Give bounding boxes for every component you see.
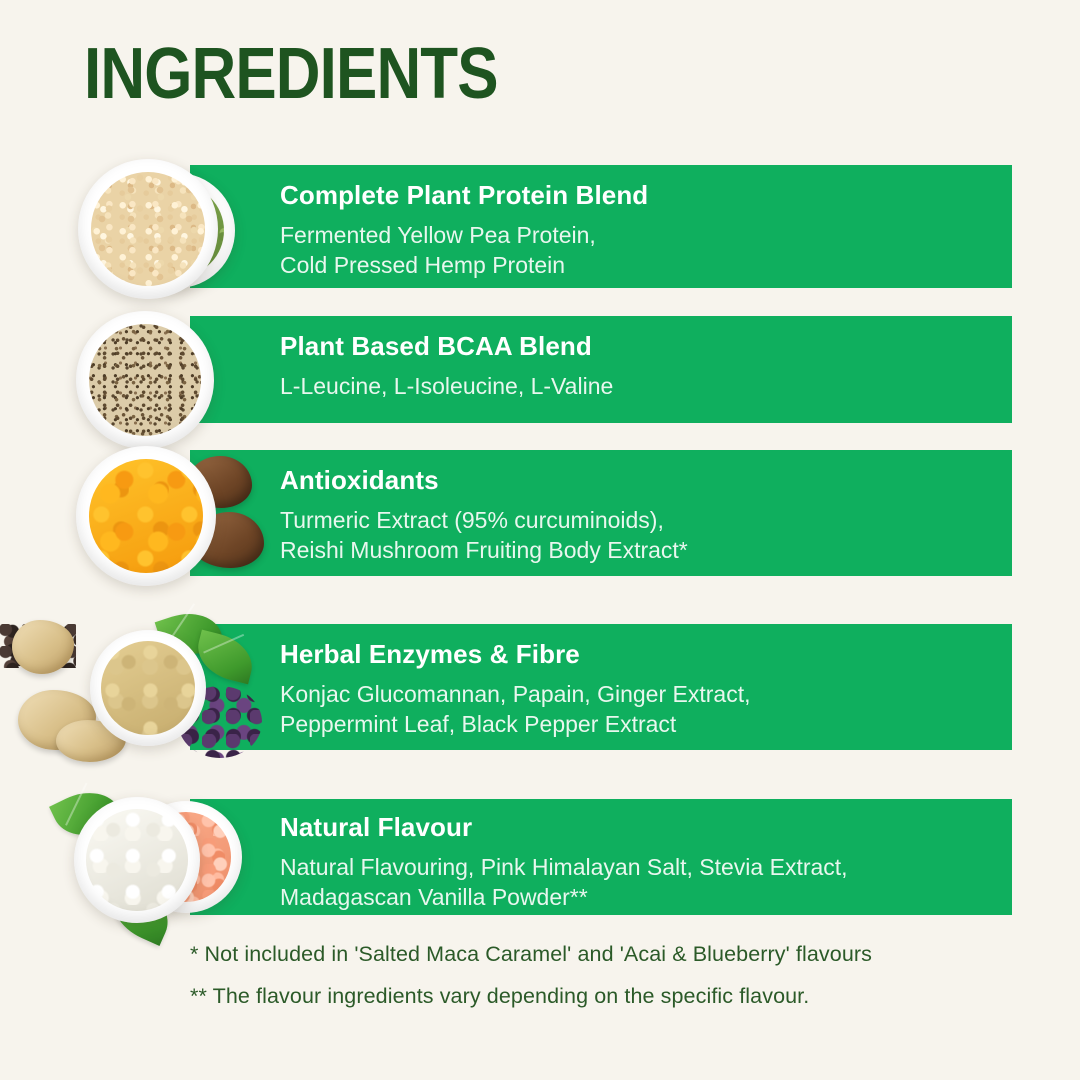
ingredient-description: Natural Flavouring, Pink Himalayan Salt,…: [280, 852, 1056, 913]
ingredient-title: Plant Based BCAA Blend: [280, 332, 1056, 362]
ingredient-row: Natural Flavour Natural Flavouring, Pink…: [0, 799, 1080, 915]
ingredient-text-block: Complete Plant Protein Blend Fermented Y…: [280, 181, 1056, 281]
ginger-root-icon: [18, 690, 96, 750]
ingredient-description: Fermented Yellow Pea Protein, Cold Press…: [280, 220, 1056, 281]
ingredient-row: Plant Based BCAA Blend L-Leucine, L-Isol…: [0, 316, 1080, 423]
ingredient-title: Herbal Enzymes & Fibre: [280, 640, 1056, 670]
ingredient-text-block: Plant Based BCAA Blend L-Leucine, L-Isol…: [280, 332, 1056, 401]
ingredient-text-block: Antioxidants Turmeric Extract (95% curcu…: [280, 466, 1056, 566]
stevia-leaf-icon: [49, 780, 125, 849]
footnote-single-asterisk: * Not included in 'Salted Maca Caramel' …: [190, 942, 1010, 968]
ingredient-row: Complete Plant Protein Blend Fermented Y…: [0, 165, 1080, 288]
ingredient-description: L-Leucine, L-Isoleucine, L-Valine: [280, 371, 1056, 402]
vanilla-powder-bowl: [74, 797, 200, 923]
ingredient-description: Konjac Glucomannan, Papain, Ginger Extra…: [280, 679, 1056, 740]
herbal-powder-fill: [101, 641, 195, 735]
ingredient-text-block: Herbal Enzymes & Fibre Konjac Glucomanna…: [280, 640, 1056, 740]
ingredient-title: Natural Flavour: [280, 813, 1056, 843]
turmeric-powder-fill: [89, 459, 203, 573]
ingredient-title: Complete Plant Protein Blend: [280, 181, 1056, 211]
ingredient-title: Antioxidants: [280, 466, 1056, 496]
footnote-double-asterisk: ** The flavour ingredients vary dependin…: [190, 984, 1010, 1010]
ginger-root-icon: [12, 620, 74, 674]
pea-protein-fill: [91, 172, 205, 286]
ingredient-row: Herbal Enzymes & Fibre Konjac Glucomanna…: [0, 624, 1080, 750]
page-title: INGREDIENTS: [84, 38, 498, 110]
black-peppercorns-icon: [0, 624, 76, 668]
ginger-root-icon: [56, 720, 126, 762]
herbal-powder-bowl: [90, 630, 206, 746]
ingredient-text-block: Natural Flavour Natural Flavouring, Pink…: [280, 813, 1056, 913]
footnotes-block: * Not included in 'Salted Maca Caramel' …: [190, 942, 1010, 1010]
ingredient-description: Turmeric Extract (95% curcuminoids), Rei…: [280, 505, 1056, 566]
vanilla-powder-fill: [86, 809, 188, 911]
bcaa-powder-fill: [89, 324, 201, 436]
stevia-leaf-icon: [101, 876, 179, 946]
ingredient-row: Antioxidants Turmeric Extract (95% curcu…: [0, 450, 1080, 576]
